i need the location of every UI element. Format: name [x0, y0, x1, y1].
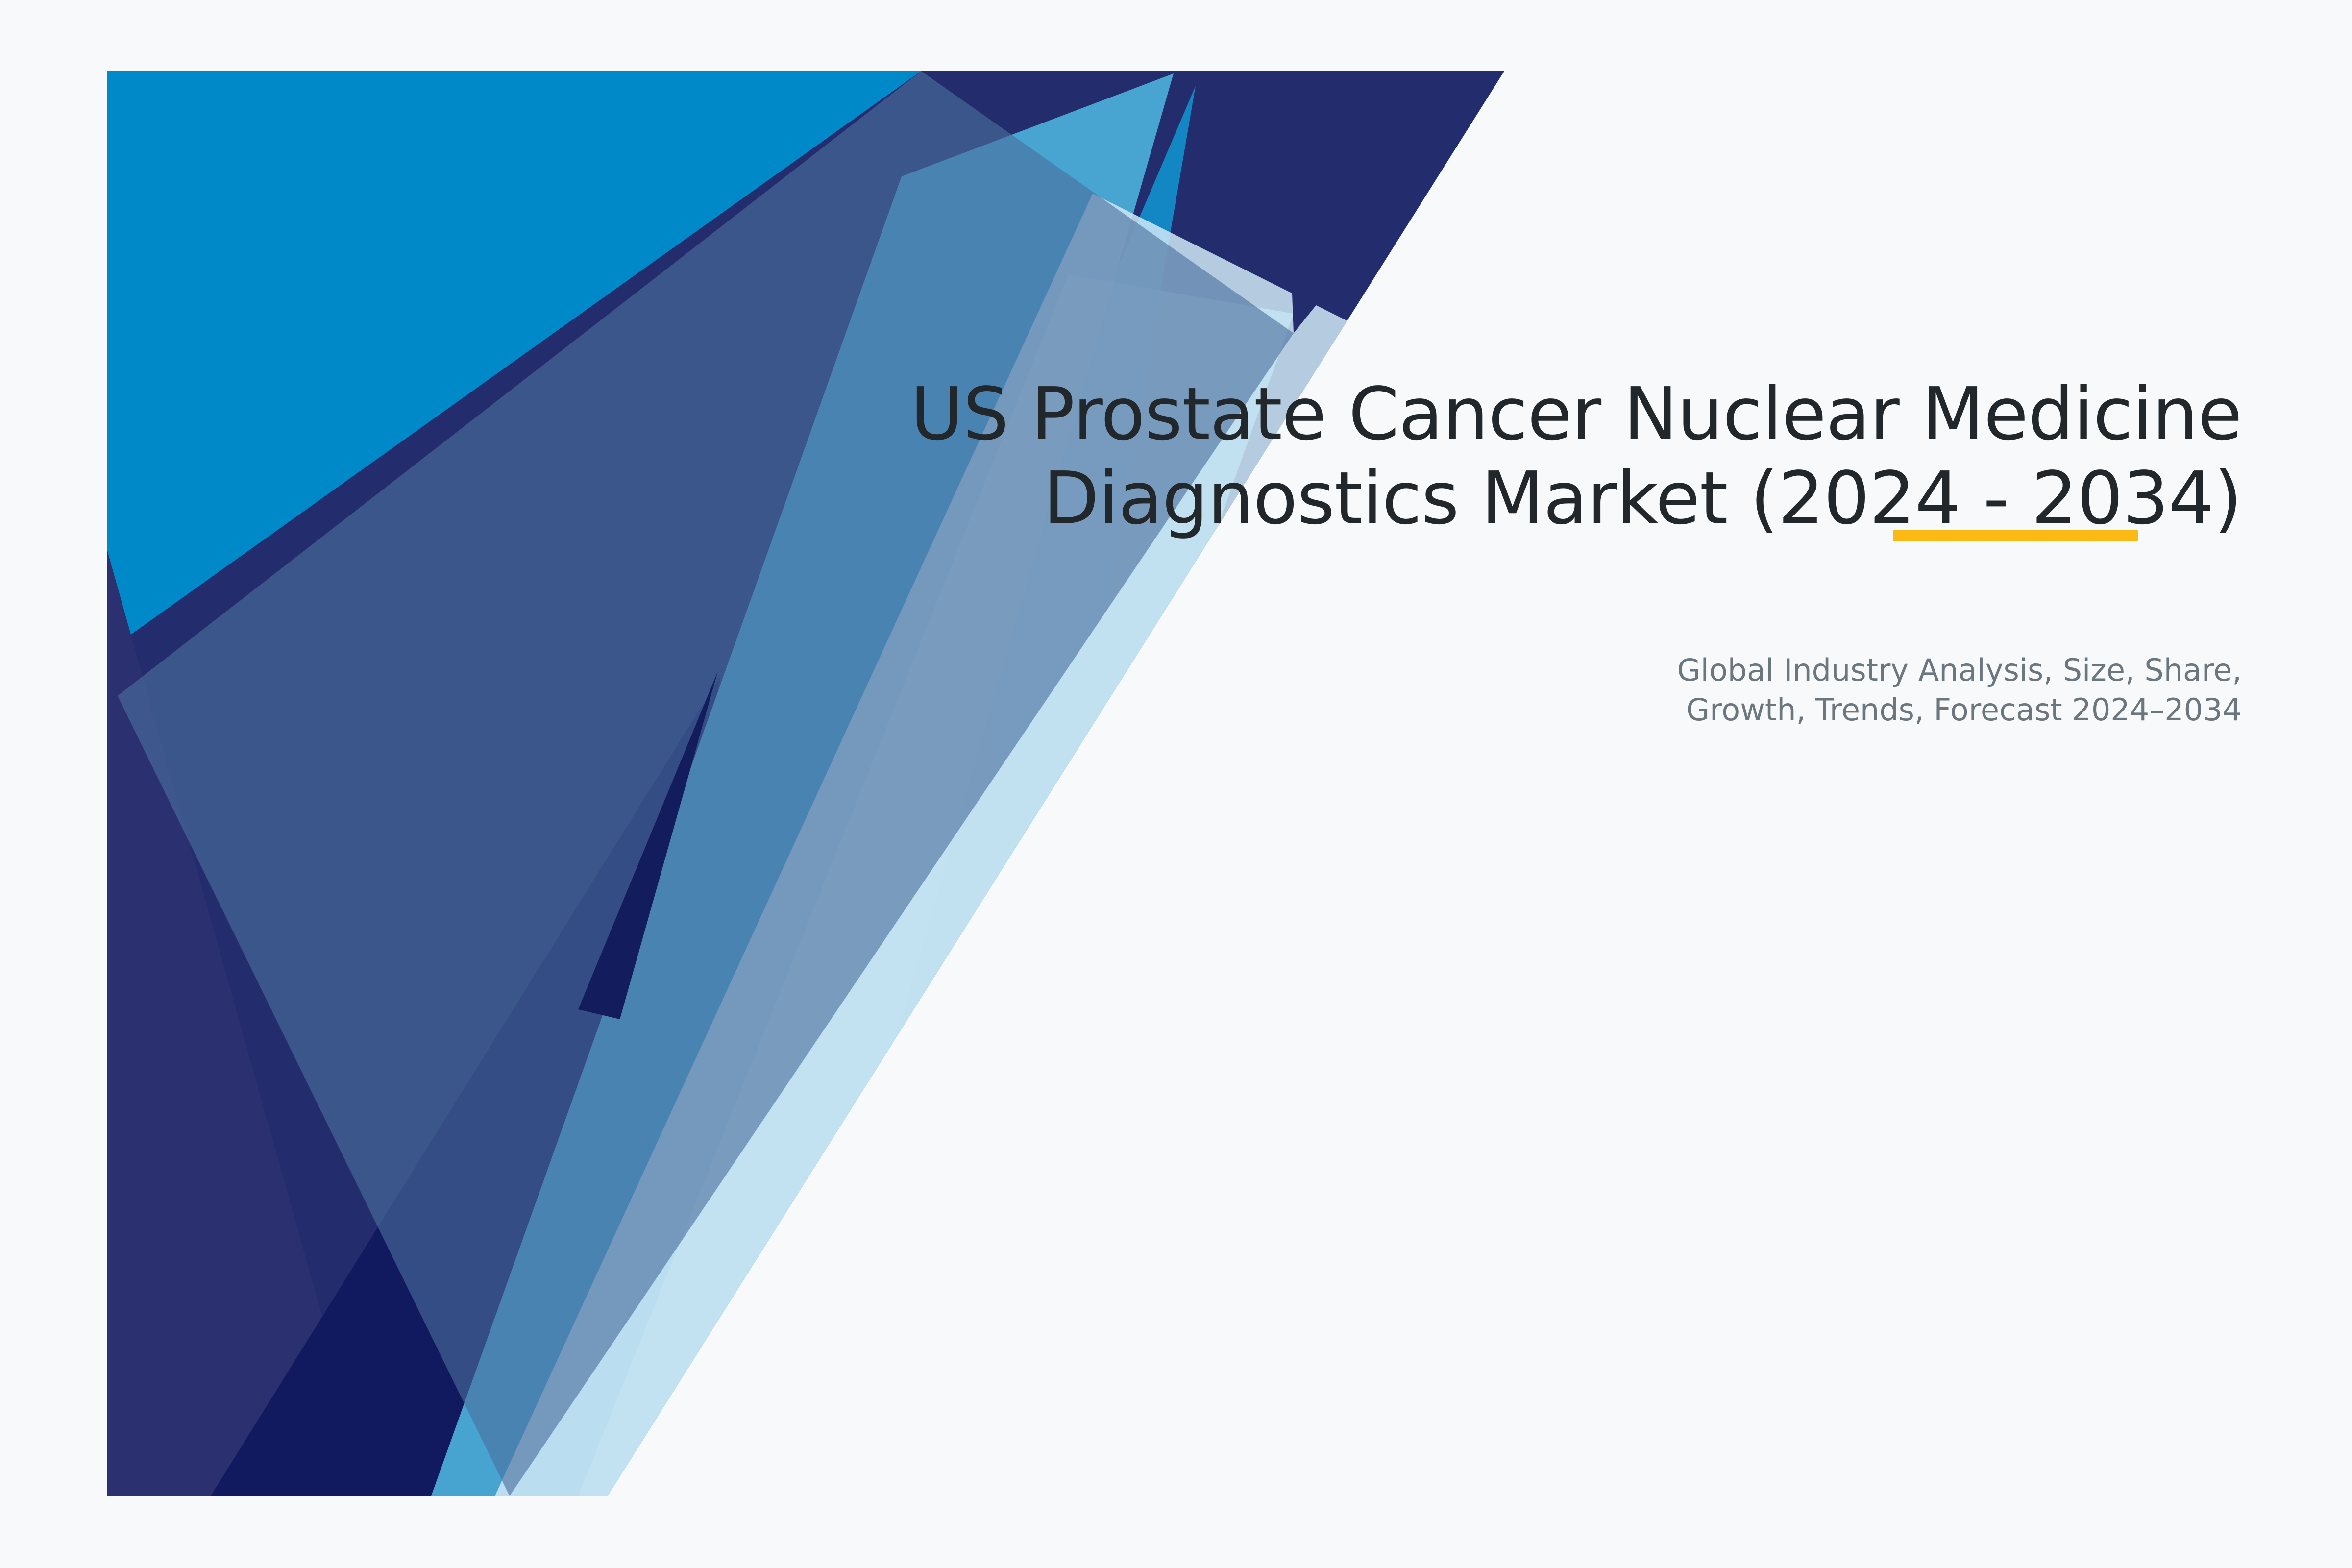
page-title-line-2: Diagnostics Market (2024 - 2034): [870, 457, 2242, 541]
page-subtitle-line-1: Global Industry Analysis, Size, Share,: [1677, 652, 2242, 688]
report-cover: US Prostate Cancer Nuclear Medicine Diag…: [0, 0, 2352, 1568]
shape-cyan-base: [107, 71, 1508, 1502]
geometric-cover-graphic: [0, 0, 2352, 1568]
cover-text-block: US Prostate Cancer Nuclear Medicine Diag…: [870, 372, 2242, 540]
shape-sky-blue-band: [431, 73, 1174, 1496]
shape-navy-field: [107, 71, 1504, 1496]
shape-indigo-left-column: [107, 549, 372, 1496]
shape-deep-navy-spike: [431, 681, 735, 1496]
shape-slate-overlay-parallelogram: [118, 71, 1294, 1496]
shape-navy-accent-sliver: [578, 671, 718, 1019]
shape-deep-navy-wedge: [211, 676, 720, 1496]
page-title: US Prostate Cancer Nuclear Medicine: [870, 372, 2242, 457]
shape-navy-top-right: [1284, 71, 1504, 333]
page-subtitle-line-2: Growth, Trends, Forecast 2024–2034: [1686, 692, 2242, 728]
page-subtitle: Global Industry Analysis, Size, Share,Gr…: [1066, 651, 2242, 730]
